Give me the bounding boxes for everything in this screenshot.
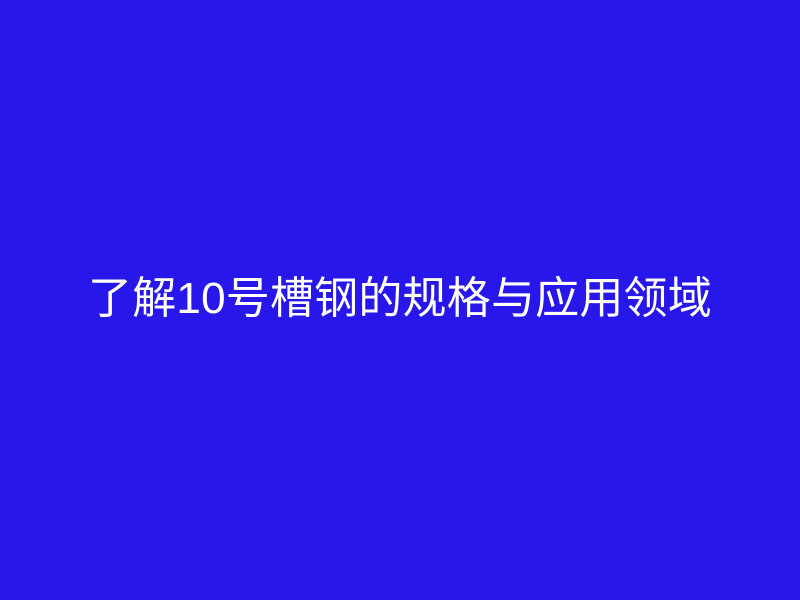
headline-block: 了解10号槽钢的规格与应用领域 <box>0 276 800 322</box>
banner-canvas: 了解10号槽钢的规格与应用领域 <box>0 0 800 600</box>
page-title: 了解10号槽钢的规格与应用领域 <box>88 276 712 322</box>
